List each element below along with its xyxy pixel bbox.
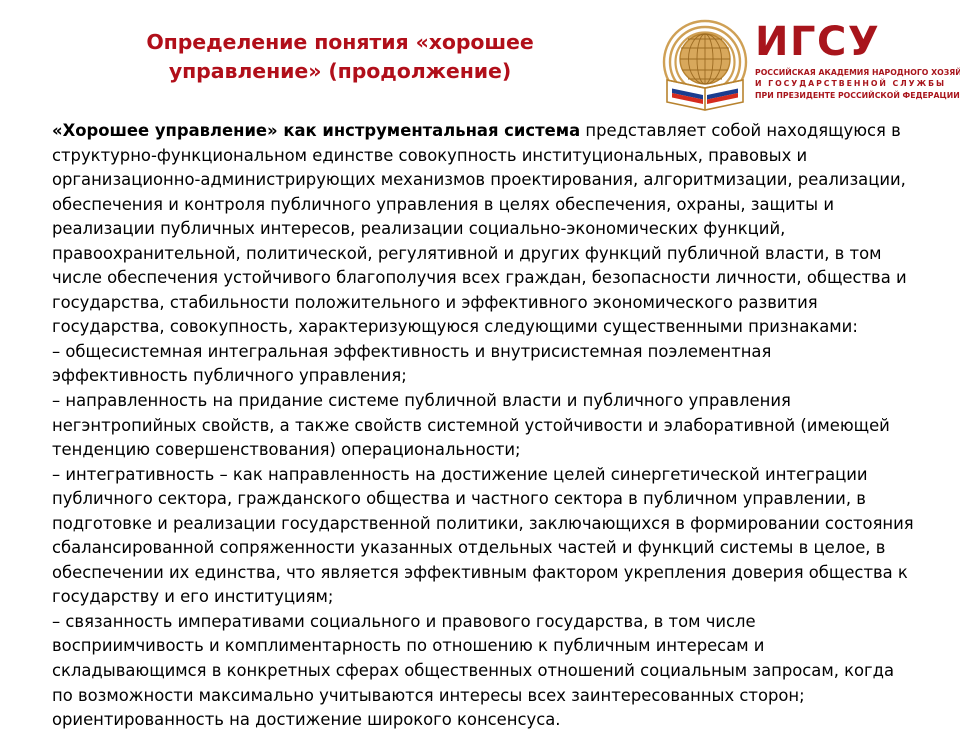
slide-title-block: Определение понятия «хорошееуправление» … [60, 28, 620, 86]
logo-subtitle-line-3: ПРИ ПРЕЗИДЕНТЕ РОССИЙСКОЙ ФЕДЕРАЦИИ [755, 90, 952, 101]
globe-book-emblem-icon [655, 18, 755, 114]
institution-logo: ИГСУ РОССИЙСКАЯ АКАДЕМИЯ НАРОДНОГО ХОЗЯЙ… [655, 18, 955, 114]
logo-subtitle: РОССИЙСКАЯ АКАДЕМИЯ НАРОДНОГО ХОЗЯЙСТВА … [755, 67, 960, 101]
page-title: Определение понятия «хорошееуправление» … [60, 28, 620, 86]
slide-title-line-2: управление» (продолжение) [169, 59, 511, 83]
slide-header: Определение понятия «хорошееуправление» … [0, 0, 960, 118]
body-lead-bold: «Хорошее управление» как инструментальна… [52, 121, 580, 140]
logo-subtitle-line-2: И ГОСУДАРСТВЕННОЙ СЛУЖБЫ [755, 78, 952, 89]
body-paragraph: «Хорошее управление» как инструментальна… [52, 119, 930, 733]
body-lead-rest: представляет собой находящуюся в структу… [52, 121, 914, 729]
presentation-slide: Определение понятия «хорошееуправление» … [0, 0, 960, 720]
slide-title-line-1: Определение понятия «хорошее [146, 30, 533, 54]
logo-text-block: ИГСУ РОССИЙСКАЯ АКАДЕМИЯ НАРОДНОГО ХОЗЯЙ… [755, 20, 960, 101]
logo-acronym: ИГСУ [755, 20, 960, 64]
slide-body: «Хорошее управление» как инструментальна… [52, 119, 930, 733]
logo-subtitle-line-1: РОССИЙСКАЯ АКАДЕМИЯ НАРОДНОГО ХОЗЯЙСТВА [755, 67, 952, 78]
